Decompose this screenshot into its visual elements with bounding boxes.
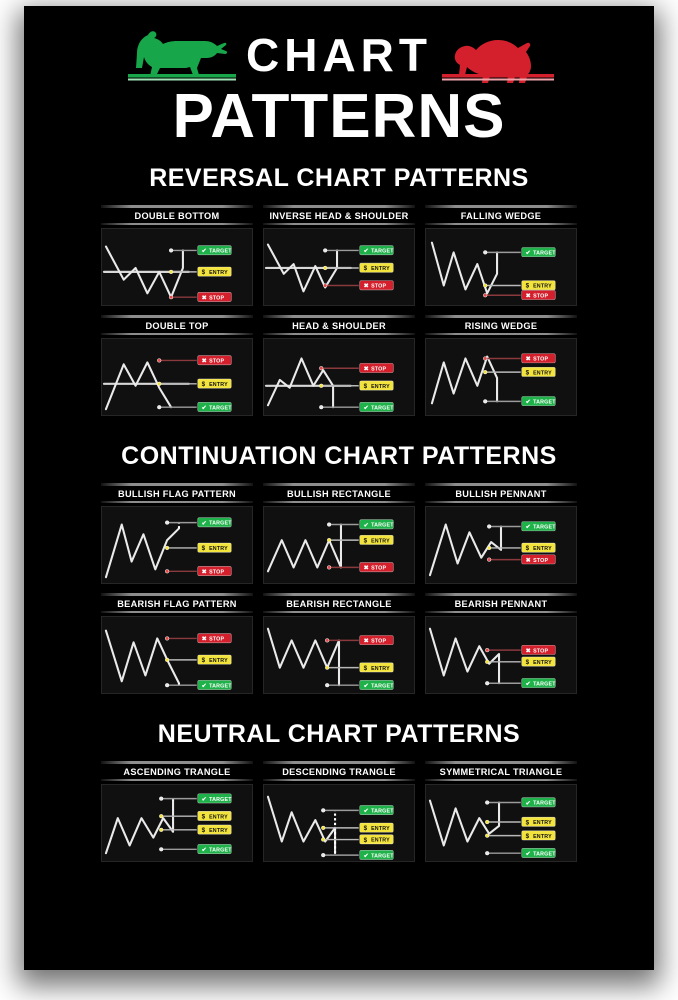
- card-divider-bottom: [101, 779, 253, 781]
- pattern-row-reversal-bearish: DOUBLE TOP✖STOP$ENTRY✔TARGETHEAD & SHOUL…: [38, 315, 640, 416]
- pattern-canvas: ✖STOP$ENTRY✔TARGET: [425, 338, 577, 416]
- svg-text:TARGET: TARGET: [371, 853, 394, 859]
- card-divider-top: [101, 761, 253, 764]
- level-badge: ✖STOP: [198, 292, 232, 301]
- svg-text:$: $: [202, 381, 206, 388]
- level-badge: ✔TARGET: [360, 680, 395, 689]
- card-divider-top: [263, 205, 415, 208]
- svg-text:✖: ✖: [364, 283, 369, 290]
- card-divider-bottom: [101, 501, 253, 503]
- sections-host: REVERSAL CHART PATTERNSDOUBLE BOTTOM✔TAR…: [24, 164, 654, 862]
- svg-text:✔: ✔: [526, 800, 531, 807]
- pattern-canvas: ✖STOP$ENTRY✔TARGET: [263, 616, 415, 694]
- card-divider-top: [425, 315, 577, 318]
- pattern-card[interactable]: INVERSE HEAD & SHOULDER✔TARGET$ENTRY✖STO…: [263, 205, 415, 306]
- svg-text:STOP: STOP: [371, 566, 386, 572]
- svg-text:✖: ✖: [202, 636, 207, 643]
- pattern-row-reversal-bullish: DOUBLE BOTTOM✔TARGET$ENTRY✖STOPINVERSE H…: [38, 205, 640, 306]
- svg-text:TARGET: TARGET: [533, 400, 556, 406]
- level-badge: ✔TARGET: [360, 850, 395, 859]
- level-badge: ✖STOP: [522, 290, 556, 299]
- card-divider-bottom: [263, 611, 415, 613]
- pattern-canvas: ✖STOP$ENTRY✔TARGET: [101, 616, 253, 694]
- pattern-schematic: ✖STOP$ENTRY✔TARGET: [102, 617, 252, 693]
- level-badge: ✖STOP: [198, 356, 232, 365]
- svg-text:✔: ✔: [364, 852, 369, 859]
- level-badge: ✔TARGET: [198, 680, 233, 689]
- svg-text:$: $: [526, 819, 530, 826]
- svg-text:✔: ✔: [526, 524, 531, 531]
- level-badge: ✔TARGET: [360, 520, 395, 529]
- svg-text:TARGET: TARGET: [209, 797, 232, 803]
- svg-text:ENTRY: ENTRY: [209, 814, 228, 820]
- pattern-schematic: ✖STOP$ENTRY✔TARGET: [264, 339, 414, 415]
- pattern-schematic: ✔TARGET$ENTRY$ENTRY✔TARGET: [426, 785, 576, 861]
- pattern-canvas: ✔TARGET$ENTRY✖STOP: [263, 506, 415, 584]
- card-divider-top: [101, 315, 253, 318]
- svg-text:$: $: [202, 813, 206, 820]
- card-divider-top: [425, 761, 577, 764]
- level-badge: ✖STOP: [360, 636, 394, 645]
- svg-text:✖: ✖: [526, 293, 531, 300]
- svg-text:ENTRY: ENTRY: [209, 658, 228, 664]
- svg-text:$: $: [526, 283, 530, 290]
- svg-text:✔: ✔: [202, 796, 207, 803]
- level-badge: ✔TARGET: [360, 246, 395, 255]
- level-badge: ✔TARGET: [522, 848, 557, 857]
- level-badge: $ENTRY: [198, 825, 232, 834]
- svg-text:STOP: STOP: [371, 366, 386, 372]
- svg-text:$: $: [364, 537, 368, 544]
- level-badge: ✖STOP: [360, 563, 394, 572]
- svg-text:TARGET: TARGET: [209, 405, 232, 411]
- page-title-chart: CHART: [246, 32, 432, 78]
- level-badge: ✔TARGET: [522, 522, 557, 531]
- svg-text:✔: ✔: [202, 404, 207, 411]
- level-badge: $ENTRY: [522, 281, 556, 290]
- pattern-card[interactable]: ASCENDING TRANGLE✔TARGET$ENTRY$ENTRY✔TAR…: [101, 761, 253, 862]
- svg-text:✔: ✔: [364, 404, 369, 411]
- card-divider-top: [425, 205, 577, 208]
- level-badge: $ENTRY: [360, 535, 394, 544]
- pattern-card-title: SYMMETRICAL TRIANGLE: [425, 766, 577, 779]
- chart-patterns-poster: CHART PATTERNS REVERSAL CHART PATTERNSDO…: [24, 6, 654, 970]
- svg-text:ENTRY: ENTRY: [209, 382, 228, 388]
- level-badge: $ENTRY: [198, 655, 232, 664]
- svg-text:$: $: [202, 545, 206, 552]
- card-divider-bottom: [263, 501, 415, 503]
- level-badge: $ENTRY: [198, 267, 232, 276]
- svg-text:STOP: STOP: [533, 558, 548, 564]
- svg-text:ENTRY: ENTRY: [533, 660, 552, 666]
- card-divider-top: [263, 483, 415, 486]
- pattern-card-title: HEAD & SHOULDER: [263, 320, 415, 333]
- svg-text:✔: ✔: [364, 248, 369, 255]
- pattern-card[interactable]: SYMMETRICAL TRIANGLE✔TARGET$ENTRY$ENTRY✔…: [425, 761, 577, 862]
- level-badge: ✖STOP: [522, 645, 556, 654]
- page-title-patterns: PATTERNS: [24, 86, 654, 148]
- pattern-canvas: ✖STOP$ENTRY✔TARGET: [425, 616, 577, 694]
- svg-text:ENTRY: ENTRY: [371, 384, 390, 390]
- svg-text:ENTRY: ENTRY: [371, 838, 390, 844]
- level-badge: $ENTRY: [360, 835, 394, 844]
- svg-text:STOP: STOP: [533, 293, 548, 299]
- pattern-canvas: ✖STOP$ENTRY✔TARGET: [263, 338, 415, 416]
- svg-text:TARGET: TARGET: [533, 851, 556, 857]
- svg-text:✔: ✔: [526, 850, 531, 857]
- pattern-schematic: ✔TARGET$ENTRY$ENTRY✔TARGET: [264, 785, 414, 861]
- level-badge: ✖STOP: [522, 354, 556, 363]
- pattern-schematic: ✔TARGET$ENTRY✖STOP: [102, 229, 252, 305]
- card-divider-bottom: [263, 333, 415, 335]
- pattern-card[interactable]: BULLISH RECTANGLE✔TARGET$ENTRY✖STOP: [263, 483, 415, 584]
- level-badge: ✖STOP: [198, 566, 232, 575]
- bull-icon: [118, 25, 236, 85]
- card-divider-bottom: [101, 333, 253, 335]
- pattern-card[interactable]: DOUBLE TOP✖STOP$ENTRY✔TARGET: [101, 315, 253, 416]
- svg-text:TARGET: TARGET: [209, 249, 232, 255]
- pattern-card-title: BEARISH RECTANGLE: [263, 598, 415, 611]
- pattern-canvas: ✔TARGET$ENTRY✖STOP: [425, 506, 577, 584]
- svg-text:✔: ✔: [202, 248, 207, 255]
- svg-text:✖: ✖: [526, 647, 531, 654]
- svg-text:STOP: STOP: [371, 639, 386, 645]
- level-badge: ✔TARGET: [198, 794, 233, 803]
- svg-text:TARGET: TARGET: [209, 683, 232, 689]
- svg-text:$: $: [202, 827, 206, 834]
- svg-text:✖: ✖: [202, 358, 207, 365]
- svg-text:ENTRY: ENTRY: [209, 546, 228, 552]
- pattern-canvas: ✔TARGET$ENTRY✖STOP: [425, 228, 577, 306]
- level-badge: $ENTRY: [522, 831, 556, 840]
- level-badge: ✔TARGET: [198, 246, 233, 255]
- svg-text:ENTRY: ENTRY: [209, 828, 228, 834]
- pattern-card[interactable]: DOUBLE BOTTOM✔TARGET$ENTRY✖STOP: [101, 205, 253, 306]
- card-divider-top: [101, 483, 253, 486]
- svg-text:✔: ✔: [364, 682, 369, 689]
- svg-text:$: $: [526, 833, 530, 840]
- pattern-card-title: BEARISH PENNANT: [425, 598, 577, 611]
- pattern-schematic: ✔TARGET$ENTRY✖STOP: [426, 229, 576, 305]
- svg-text:STOP: STOP: [209, 569, 224, 575]
- pattern-row-continuation-bearish: BEARISH FLAG PATTERN✖STOP$ENTRY✔TARGETBE…: [38, 593, 640, 694]
- section-heading-neutral: NEUTRAL CHART PATTERNS: [24, 720, 654, 749]
- level-badge: $ENTRY: [360, 381, 394, 390]
- pattern-canvas: ✔TARGET$ENTRY✖STOP: [101, 228, 253, 306]
- card-divider-bottom: [425, 223, 577, 225]
- pattern-card[interactable]: BEARISH FLAG PATTERN✖STOP$ENTRY✔TARGET: [101, 593, 253, 694]
- svg-text:✔: ✔: [202, 847, 207, 854]
- svg-text:STOP: STOP: [533, 648, 548, 654]
- pattern-card-title: FALLING WEDGE: [425, 210, 577, 223]
- card-divider-bottom: [425, 779, 577, 781]
- svg-text:$: $: [364, 825, 368, 832]
- pattern-canvas: ✔TARGET$ENTRY✖STOP: [263, 228, 415, 306]
- svg-text:✔: ✔: [202, 682, 207, 689]
- pattern-card[interactable]: BEARISH PENNANT✖STOP$ENTRY✔TARGET: [425, 593, 577, 694]
- bear-icon: [442, 25, 560, 85]
- level-badge: $ENTRY: [522, 657, 556, 666]
- pattern-card[interactable]: HEAD & SHOULDER✖STOP$ENTRY✔TARGET: [263, 315, 415, 416]
- pattern-card-title: BEARISH FLAG PATTERN: [101, 598, 253, 611]
- level-badge: $ENTRY: [522, 367, 556, 376]
- svg-text:TARGET: TARGET: [533, 251, 556, 257]
- pattern-schematic: ✖STOP$ENTRY✔TARGET: [426, 339, 576, 415]
- pattern-card[interactable]: DESCENDING TRANGLE✔TARGET$ENTRY$ENTRY✔TA…: [263, 761, 415, 862]
- card-divider-top: [425, 483, 577, 486]
- pattern-schematic: ✔TARGET$ENTRY✖STOP: [426, 507, 576, 583]
- pattern-canvas: ✖STOP$ENTRY✔TARGET: [101, 338, 253, 416]
- svg-text:✖: ✖: [364, 638, 369, 645]
- pattern-card[interactable]: BULLISH PENNANT✔TARGET$ENTRY✖STOP: [425, 483, 577, 584]
- svg-text:TARGET: TARGET: [209, 847, 232, 853]
- level-badge: ✔TARGET: [522, 396, 557, 405]
- level-badge: $ENTRY: [522, 817, 556, 826]
- pattern-card-title: ASCENDING TRANGLE: [101, 766, 253, 779]
- svg-text:✖: ✖: [202, 569, 207, 576]
- pattern-schematic: ✔TARGET$ENTRY✖STOP: [264, 229, 414, 305]
- level-badge: $ENTRY: [198, 379, 232, 388]
- pattern-card-title: INVERSE HEAD & SHOULDER: [263, 210, 415, 223]
- svg-text:TARGET: TARGET: [371, 249, 394, 255]
- svg-text:ENTRY: ENTRY: [533, 370, 552, 376]
- svg-text:TARGET: TARGET: [371, 405, 394, 411]
- level-badge: ✖STOP: [522, 555, 556, 564]
- svg-text:$: $: [364, 383, 368, 390]
- card-divider-bottom: [101, 611, 253, 613]
- pattern-schematic: ✔TARGET$ENTRY✖STOP: [264, 507, 414, 583]
- svg-text:TARGET: TARGET: [533, 525, 556, 531]
- card-divider-top: [263, 761, 415, 764]
- pattern-canvas: ✔TARGET$ENTRY$ENTRY✔TARGET: [101, 784, 253, 862]
- svg-text:$: $: [526, 545, 530, 552]
- pattern-card[interactable]: BEARISH RECTANGLE✖STOP$ENTRY✔TARGET: [263, 593, 415, 694]
- level-badge: ✖STOP: [360, 281, 394, 290]
- pattern-schematic: ✔TARGET$ENTRY$ENTRY✔TARGET: [102, 785, 252, 861]
- level-badge: ✖STOP: [360, 363, 394, 372]
- level-badge: $ENTRY: [198, 811, 232, 820]
- pattern-card-title: BULLISH RECTANGLE: [263, 488, 415, 501]
- svg-text:$: $: [202, 657, 206, 664]
- svg-text:TARGET: TARGET: [371, 683, 394, 689]
- level-badge: ✔TARGET: [522, 248, 557, 257]
- level-badge: $ENTRY: [360, 663, 394, 672]
- svg-text:✔: ✔: [364, 522, 369, 529]
- svg-text:✖: ✖: [202, 294, 207, 301]
- pattern-card-title: RISING WEDGE: [425, 320, 577, 333]
- level-badge: $ENTRY: [360, 823, 394, 832]
- svg-text:TARGET: TARGET: [533, 681, 556, 687]
- section-grid-reversal: DOUBLE BOTTOM✔TARGET$ENTRY✖STOPINVERSE H…: [24, 205, 654, 416]
- svg-text:$: $: [364, 265, 368, 272]
- svg-text:$: $: [364, 837, 368, 844]
- pattern-card-title: BULLISH PENNANT: [425, 488, 577, 501]
- svg-text:✔: ✔: [202, 520, 207, 527]
- pattern-card-title: DOUBLE TOP: [101, 320, 253, 333]
- pattern-canvas: ✔TARGET$ENTRY$ENTRY✔TARGET: [425, 784, 577, 862]
- pattern-card[interactable]: FALLING WEDGE✔TARGET$ENTRY✖STOP: [425, 205, 577, 306]
- svg-text:$: $: [526, 659, 530, 666]
- svg-text:ENTRY: ENTRY: [209, 270, 228, 276]
- svg-text:✔: ✔: [364, 808, 369, 815]
- svg-text:ENTRY: ENTRY: [371, 538, 390, 544]
- section-heading-reversal: REVERSAL CHART PATTERNS: [24, 164, 654, 193]
- pattern-schematic: ✔TARGET$ENTRY✖STOP: [102, 507, 252, 583]
- card-divider-bottom: [101, 223, 253, 225]
- svg-text:✖: ✖: [526, 356, 531, 363]
- pattern-schematic: ✖STOP$ENTRY✔TARGET: [426, 617, 576, 693]
- level-badge: $ENTRY: [360, 263, 394, 272]
- pattern-row-continuation-bullish: BULLISH FLAG PATTERN✔TARGET$ENTRY✖STOPBU…: [38, 483, 640, 584]
- section-heading-continuation: CONTINUATION CHART PATTERNS: [24, 442, 654, 471]
- poster-header: CHART PATTERNS: [24, 6, 654, 146]
- svg-text:✔: ✔: [526, 399, 531, 406]
- level-badge: ✔TARGET: [360, 402, 395, 411]
- card-divider-bottom: [425, 333, 577, 335]
- svg-text:$: $: [202, 269, 206, 276]
- svg-text:✖: ✖: [364, 366, 369, 373]
- level-badge: ✖STOP: [198, 634, 232, 643]
- level-badge: ✔TARGET: [198, 844, 233, 853]
- svg-text:STOP: STOP: [209, 295, 224, 301]
- section-grid-continuation: BULLISH FLAG PATTERN✔TARGET$ENTRY✖STOPBU…: [24, 483, 654, 694]
- svg-text:ENTRY: ENTRY: [371, 666, 390, 672]
- svg-text:STOP: STOP: [533, 357, 548, 363]
- card-divider-bottom: [425, 611, 577, 613]
- level-badge: ✔TARGET: [522, 798, 557, 807]
- svg-text:STOP: STOP: [209, 359, 224, 365]
- svg-text:TARGET: TARGET: [209, 521, 232, 527]
- section-grid-neutral: ASCENDING TRANGLE✔TARGET$ENTRY$ENTRY✔TAR…: [24, 761, 654, 862]
- card-divider-top: [101, 593, 253, 596]
- svg-text:TARGET: TARGET: [371, 523, 394, 529]
- pattern-schematic: ✖STOP$ENTRY✔TARGET: [102, 339, 252, 415]
- svg-text:ENTRY: ENTRY: [533, 834, 552, 840]
- level-badge: ✔TARGET: [198, 518, 233, 527]
- card-divider-top: [425, 593, 577, 596]
- svg-text:ENTRY: ENTRY: [533, 284, 552, 290]
- svg-text:STOP: STOP: [371, 284, 386, 290]
- pattern-card-title: DESCENDING TRANGLE: [263, 766, 415, 779]
- card-divider-bottom: [425, 501, 577, 503]
- svg-text:ENTRY: ENTRY: [371, 266, 390, 272]
- pattern-row-neutral-bullish: ASCENDING TRANGLE✔TARGET$ENTRY$ENTRY✔TAR…: [38, 761, 640, 862]
- pattern-canvas: ✔TARGET$ENTRY$ENTRY✔TARGET: [263, 784, 415, 862]
- poster-frame: CHART PATTERNS REVERSAL CHART PATTERNSDO…: [0, 0, 678, 1000]
- svg-text:STOP: STOP: [209, 637, 224, 643]
- card-divider-top: [263, 315, 415, 318]
- svg-text:✖: ✖: [526, 557, 531, 564]
- svg-text:$: $: [364, 665, 368, 672]
- level-badge: $ENTRY: [522, 543, 556, 552]
- svg-text:$: $: [526, 369, 530, 376]
- level-badge: ✔TARGET: [198, 402, 233, 411]
- svg-text:TARGET: TARGET: [533, 801, 556, 807]
- svg-text:TARGET: TARGET: [371, 809, 394, 815]
- svg-text:✔: ✔: [526, 250, 531, 257]
- level-badge: ✔TARGET: [360, 805, 395, 814]
- card-divider-top: [101, 205, 253, 208]
- pattern-card-title: BULLISH FLAG PATTERN: [101, 488, 253, 501]
- pattern-canvas: ✔TARGET$ENTRY✖STOP: [101, 506, 253, 584]
- header-logo-row: CHART: [24, 22, 654, 88]
- svg-text:ENTRY: ENTRY: [371, 826, 390, 832]
- card-divider-top: [263, 593, 415, 596]
- level-badge: $ENTRY: [198, 543, 232, 552]
- pattern-card-title: DOUBLE BOTTOM: [101, 210, 253, 223]
- pattern-card[interactable]: BULLISH FLAG PATTERN✔TARGET$ENTRY✖STOP: [101, 483, 253, 584]
- svg-text:✖: ✖: [364, 565, 369, 572]
- card-divider-bottom: [263, 779, 415, 781]
- card-divider-bottom: [263, 223, 415, 225]
- svg-text:ENTRY: ENTRY: [533, 820, 552, 826]
- pattern-schematic: ✖STOP$ENTRY✔TARGET: [264, 617, 414, 693]
- svg-text:✔: ✔: [526, 681, 531, 688]
- svg-text:ENTRY: ENTRY: [533, 546, 552, 552]
- level-badge: ✔TARGET: [522, 678, 557, 687]
- pattern-card[interactable]: RISING WEDGE✖STOP$ENTRY✔TARGET: [425, 315, 577, 416]
